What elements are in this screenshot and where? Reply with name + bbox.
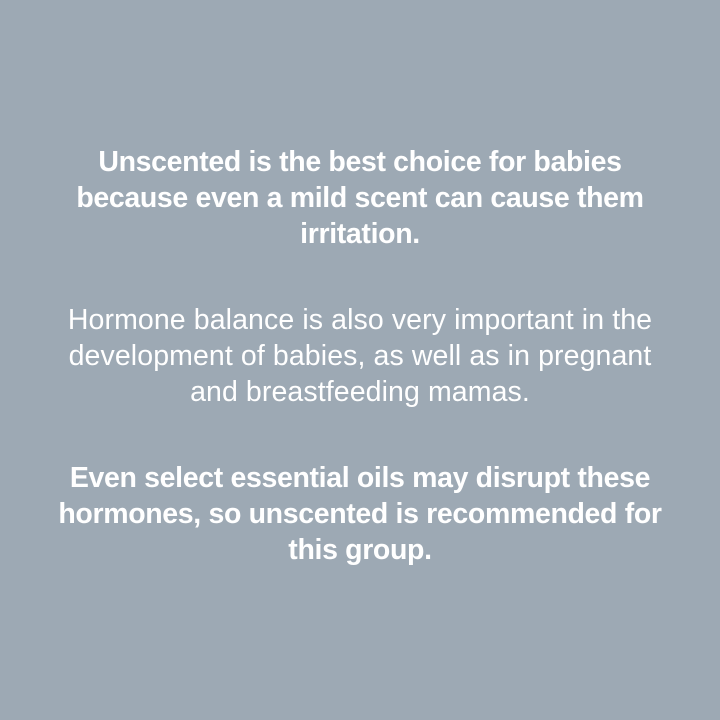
slide-canvas: Unscented is the best choice for babies … (0, 0, 720, 720)
paragraph-spacer (44, 252, 676, 302)
paragraph-spacer (44, 410, 676, 460)
paragraph-hormone-balance: Hormone balance is also very important i… (44, 302, 676, 410)
text-block: Unscented is the best choice for babies … (44, 144, 676, 568)
paragraph-essential-oils-disrupt: Even select essential oils may disrupt t… (44, 460, 676, 568)
paragraph-unscented-best-choice: Unscented is the best choice for babies … (44, 144, 676, 252)
